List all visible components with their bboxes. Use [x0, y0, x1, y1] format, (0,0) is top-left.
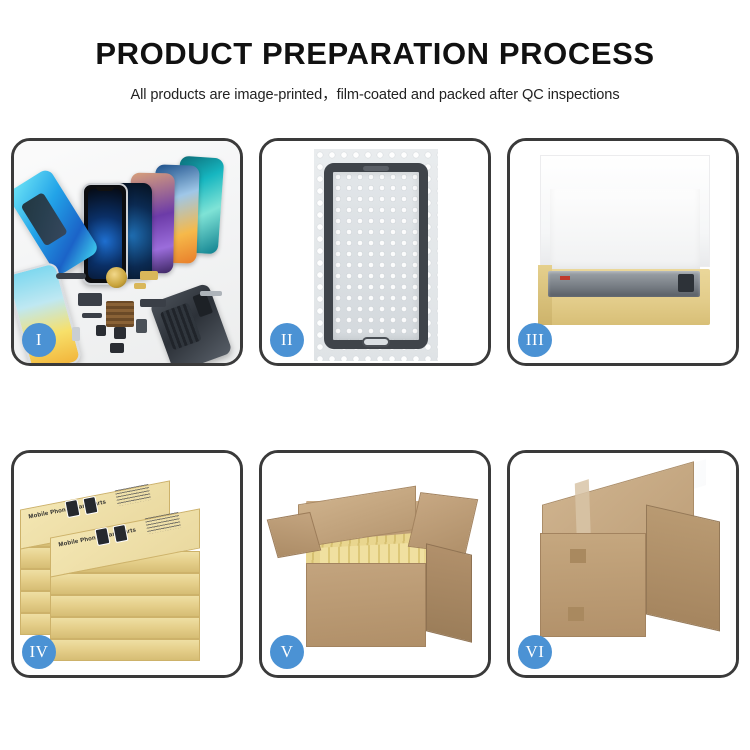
step-panel-6[interactable]: VI [507, 450, 739, 678]
step-6-image: VI [510, 453, 736, 675]
tool-part [200, 291, 222, 296]
stacked-box [50, 595, 200, 617]
step-panel-2[interactable]: II [259, 138, 491, 366]
boxed-screen [548, 271, 700, 297]
step-badge-6: VI [518, 635, 552, 669]
gold-pad-part-2 [134, 283, 146, 289]
stacked-box [50, 617, 200, 639]
stacked-box [50, 639, 200, 661]
speaker-part [96, 325, 106, 336]
home-button-icon [362, 337, 390, 347]
step-badge-4: IV [22, 635, 56, 669]
product-preparation-infographic: PRODUCT PREPARATION PROCESS All products… [0, 0, 750, 750]
foam-liner [550, 189, 700, 271]
red-label-mark [560, 276, 570, 280]
header: PRODUCT PREPARATION PROCESS All products… [0, 0, 750, 104]
step-panel-1[interactable]: I [11, 138, 243, 366]
battery-part [136, 319, 147, 333]
carton-tab-upper [570, 549, 586, 563]
chip-grid-part [106, 301, 134, 327]
sealed-carton-front [540, 533, 646, 637]
step-3-image: III [510, 141, 736, 363]
bubble-wrap-sheet [314, 149, 438, 361]
camera-slot-icon [363, 166, 389, 171]
stacked-box [50, 573, 200, 595]
step-badge-5: V [270, 635, 304, 669]
step-1-image: I [14, 141, 240, 363]
carton-side-wall [426, 543, 472, 642]
steps-grid: I II [11, 138, 739, 678]
carton-tab-lower [568, 607, 584, 621]
sim-tray-part [72, 327, 80, 341]
page-subtitle: All products are image-printed，film-coat… [0, 83, 750, 104]
step-panel-5[interactable]: V [259, 450, 491, 678]
camera-module-part [114, 327, 126, 339]
page-title: PRODUCT PREPARATION PROCESS [0, 36, 750, 72]
wrapped-screen [324, 163, 428, 349]
carton-flap-right [408, 492, 478, 554]
flex-cable-part-1 [56, 273, 86, 279]
step-2-image: II [262, 141, 488, 363]
phone-notch-icon [96, 187, 114, 191]
step-panel-3[interactable]: III [507, 138, 739, 366]
step-badge-2: II [270, 323, 304, 357]
sealed-carton-side [646, 504, 720, 631]
flex-cable-part-2 [82, 313, 102, 318]
step-4-image: Mobile Phone Spare Parts Mobile Phone Sp… [14, 453, 240, 675]
step-panel-4[interactable]: Mobile Phone Spare Parts Mobile Phone Sp… [11, 450, 243, 678]
box-stack: Mobile Phone Spare Parts Mobile Phone Sp… [20, 467, 234, 663]
vibrator-part [110, 343, 124, 353]
step-badge-3: III [518, 323, 552, 357]
connector-part-2 [140, 299, 166, 307]
carton-front-wall [306, 563, 426, 647]
step-badge-1: I [22, 323, 56, 357]
connector-part-1 [78, 293, 102, 306]
coil-part [106, 267, 127, 288]
gold-pad-part-1 [140, 271, 158, 280]
step-5-image: V [262, 453, 488, 675]
